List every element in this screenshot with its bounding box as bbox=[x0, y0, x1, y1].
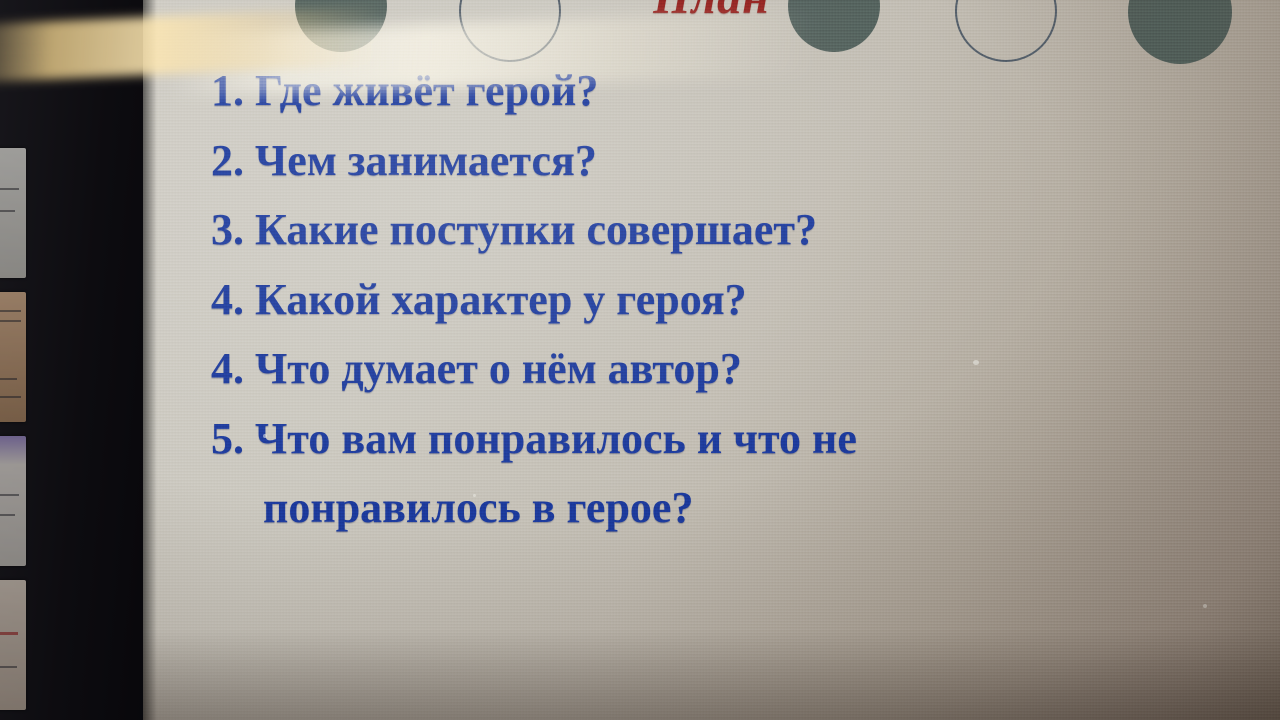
slide-thumbnail[interactable] bbox=[0, 292, 26, 422]
presentation-slide: План 1. Где живёт герой? 2. Чем занимает… bbox=[143, 0, 1280, 720]
plan-list-item: 4. Что думает о нём автор? bbox=[211, 334, 1251, 404]
slide-bottom-shadow bbox=[143, 630, 1280, 720]
slide-thumbnail-strip[interactable] bbox=[0, 0, 32, 720]
plan-list-item-continuation: понравилось в героe? bbox=[211, 473, 1251, 543]
plan-list-item: 3. Какие поступки совершает? bbox=[211, 195, 1251, 265]
slide-thumbnail[interactable] bbox=[0, 148, 26, 278]
dust-speck bbox=[1203, 604, 1207, 608]
slide-thumbnail[interactable] bbox=[0, 436, 26, 566]
plan-list-item: 5. Что вам понравилось и что не bbox=[211, 404, 1251, 474]
plan-list: 1. Где живёт герой? 2. Чем занимается? 3… bbox=[211, 56, 1251, 543]
thumbnail-accent bbox=[0, 632, 18, 635]
slide-thumbnail[interactable] bbox=[0, 580, 26, 710]
plan-list-item: 1. Где живёт герой? bbox=[211, 56, 1251, 126]
slide-edge-shadow bbox=[143, 0, 157, 720]
plan-list-item: 4. Какой характер у героя? bbox=[211, 265, 1251, 335]
screen-photograph: План 1. Где живёт герой? 2. Чем занимает… bbox=[0, 0, 1280, 720]
plan-list-item: 2. Чем занимается? bbox=[211, 126, 1251, 196]
slide-title: План bbox=[143, 0, 1280, 25]
